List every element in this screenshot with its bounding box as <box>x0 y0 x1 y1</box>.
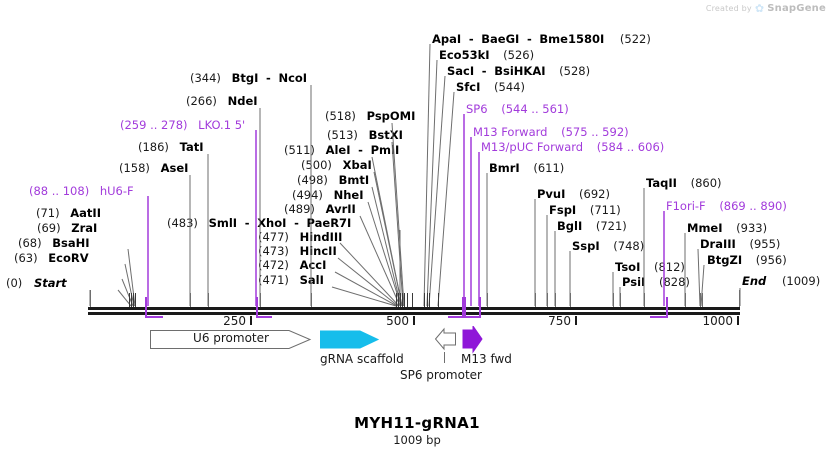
label-enzyme-btgi-ncoi[interactable]: (344) BtgI - NcoI <box>190 72 307 84</box>
label-enzyme-hindiii[interactable]: (477) HindIII <box>258 231 342 243</box>
primer-bracket-sp6[interactable] <box>448 297 464 318</box>
label-primer-m13-puc-forward[interactable]: M13/pUC Forward (584 .. 606) <box>481 141 664 153</box>
scale-tick-500 <box>413 316 415 325</box>
site-tick-71 <box>135 293 136 307</box>
site-tick-494 <box>402 293 403 307</box>
watermark-prefix: Created by <box>706 4 752 13</box>
label-primer-m13-forward[interactable]: M13 Forward (575 .. 592) <box>473 126 629 138</box>
site-tick-748 <box>570 293 571 307</box>
label-enzyme-sspi[interactable]: SspI (748) <box>572 240 644 252</box>
primer-bracket-f1ori-f[interactable] <box>650 297 668 318</box>
sequence-ruler-bar <box>88 307 740 310</box>
scale-label-250: 250 <box>190 314 246 328</box>
site-tick-start <box>90 290 91 307</box>
scale-tick-250 <box>250 316 252 325</box>
label-enzyme-eco53ki[interactable]: Eco53kI (526) <box>439 49 534 61</box>
label-primer-lko1-5[interactable]: (259 .. 278) LKO.1 5' <box>120 119 245 131</box>
scale-tick-750 <box>575 316 577 325</box>
site-tick-471 <box>396 293 397 307</box>
label-enzyme-btgzi[interactable]: BtgZI (956) <box>707 254 787 266</box>
label-end[interactable]: End (1009) <box>742 275 820 287</box>
feature-sp6-promoter[interactable] <box>435 326 457 358</box>
plasmid-title: MYH11-gRNA1 <box>0 414 834 432</box>
label-enzyme-avrii[interactable]: (489) AvrII <box>284 203 356 215</box>
label-enzyme-bmri[interactable]: BmrI (611) <box>489 162 564 174</box>
site-tick-611 <box>487 293 488 307</box>
primer-bracket-m13-forward[interactable] <box>464 297 480 318</box>
site-tick-812 <box>613 293 614 307</box>
label-enzyme-sali[interactable]: (471) SalI <box>258 274 324 286</box>
scale-label-500: 500 <box>353 314 409 328</box>
feature-label-sp6-promoter: SP6 promoter <box>400 368 482 382</box>
label-enzyme-bgli[interactable]: BglI (721) <box>557 220 627 232</box>
site-tick-956 <box>702 293 703 307</box>
site-tick-186 <box>208 293 209 307</box>
scale-label-1000: 1000 <box>669 314 733 328</box>
label-enzyme-smli-xhoi-paer7i[interactable]: (483) SmlI - XhoI - PaeR7I <box>167 217 351 229</box>
label-enzyme-alei-pmli[interactable]: (511) AleI - PmlI <box>284 144 399 156</box>
site-tick-692 <box>535 293 536 307</box>
label-enzyme-fspi[interactable]: FspI (711) <box>549 204 621 216</box>
label-enzyme-pspomi[interactable]: (518) PspOMI <box>325 110 415 122</box>
m13-fwd-arrow <box>461 326 483 354</box>
site-tick-721 <box>555 293 556 307</box>
feature-label-m13-fwd: M13 fwd <box>461 352 512 366</box>
label-start[interactable]: (0) Start <box>6 277 67 289</box>
plasmid-size: 1009 bp <box>0 433 834 447</box>
plasmid-map: Created by ✿ SnapGene (0) Start (63) Eco… <box>0 0 834 456</box>
grna-scaffold-arrow <box>320 328 380 352</box>
sequence-ruler-bar-lower <box>88 312 740 315</box>
site-tick-955 <box>700 293 701 307</box>
label-enzyme-bstxi[interactable]: (513) BstXI <box>327 129 403 141</box>
label-enzyme-hincii[interactable]: (473) HincII <box>258 245 337 257</box>
site-tick-528 <box>429 293 430 307</box>
label-primer-hu6-f[interactable]: (88 .. 108) hU6-F <box>29 185 134 197</box>
snapgene-watermark: Created by ✿ SnapGene <box>706 3 826 14</box>
label-primer-f1ori-f[interactable]: F1ori-F (869 .. 890) <box>666 200 787 212</box>
watermark-brand: SnapGene <box>767 3 826 14</box>
primer-bracket-hu6-f[interactable] <box>145 297 163 318</box>
site-tick-68 <box>131 293 132 307</box>
site-tick-473 <box>398 293 399 307</box>
label-enzyme-zrai[interactable]: (69) ZraI <box>37 222 97 234</box>
site-tick-860 <box>644 293 645 307</box>
label-enzyme-mmei[interactable]: MmeI (933) <box>687 222 767 234</box>
site-tick-526 <box>427 293 428 307</box>
site-tick-933 <box>685 293 686 307</box>
label-enzyme-aatii[interactable]: (71) AatII <box>36 207 101 219</box>
snapgene-leaf-icon: ✿ <box>755 3 764 14</box>
site-tick-518 <box>412 293 413 307</box>
label-enzyme-nhei[interactable]: (494) NheI <box>292 189 363 201</box>
feature-label-u6-promoter: U6 promoter <box>172 331 290 345</box>
label-enzyme-taqii[interactable]: TaqII (860) <box>646 177 722 189</box>
primer-bracket-m13-puc-forward[interactable] <box>479 297 481 318</box>
site-tick-158 <box>190 293 191 307</box>
primer-bracket-lko1[interactable] <box>256 297 272 318</box>
label-enzyme-apai-baegi-bme1580i[interactable]: ApaI - BaeGI - Bme1580I (522) <box>432 33 651 45</box>
sp6-promoter-arrow <box>435 326 457 354</box>
site-tick-63 <box>129 293 130 307</box>
sp6-promoter-leader <box>444 352 445 363</box>
feature-label-grna-scaffold: gRNA scaffold <box>320 352 404 366</box>
label-enzyme-acci[interactable]: (472) AccI <box>258 259 326 271</box>
site-tick-344 <box>311 293 312 307</box>
label-enzyme-saci-bsihkai[interactable]: SacI - BsiHKAI (528) <box>447 65 590 77</box>
label-enzyme-bsahi[interactable]: (68) BsaHI <box>18 237 90 249</box>
label-enzyme-draiii[interactable]: DraIII (955) <box>700 238 780 250</box>
label-enzyme-xbai[interactable]: (500) XbaI <box>301 159 372 171</box>
site-tick-500 <box>404 293 405 307</box>
label-enzyme-pvui[interactable]: PvuI (692) <box>537 188 610 200</box>
label-enzyme-bmti[interactable]: (498) BmtI <box>297 174 369 186</box>
label-enzyme-asei[interactable]: (158) AseI <box>119 162 188 174</box>
site-tick-828 <box>620 293 621 307</box>
site-tick-69 <box>133 293 134 307</box>
label-enzyme-psii[interactable]: PsiI (828) <box>622 276 690 288</box>
site-tick-711 <box>547 293 548 307</box>
label-enzyme-ecorv[interactable]: (63) EcoRV <box>14 252 89 264</box>
label-enzyme-tati[interactable]: (186) TatI <box>138 141 204 153</box>
site-tick-544 <box>438 293 439 307</box>
label-enzyme-ndei[interactable]: (266) NdeI <box>186 95 258 107</box>
scale-label-750: 750 <box>515 314 571 328</box>
label-enzyme-tsoi[interactable]: TsoI (812) <box>615 261 685 273</box>
site-tick-end <box>739 290 740 307</box>
site-tick-511 <box>407 293 408 307</box>
scale-tick-1000 <box>737 316 739 325</box>
label-enzyme-sfci[interactable]: SfcI (544) <box>456 81 525 93</box>
site-tick-522 <box>424 293 425 307</box>
site-tick-483 <box>400 293 401 307</box>
label-primer-sp6[interactable]: SP6 (544 .. 561) <box>466 103 569 115</box>
